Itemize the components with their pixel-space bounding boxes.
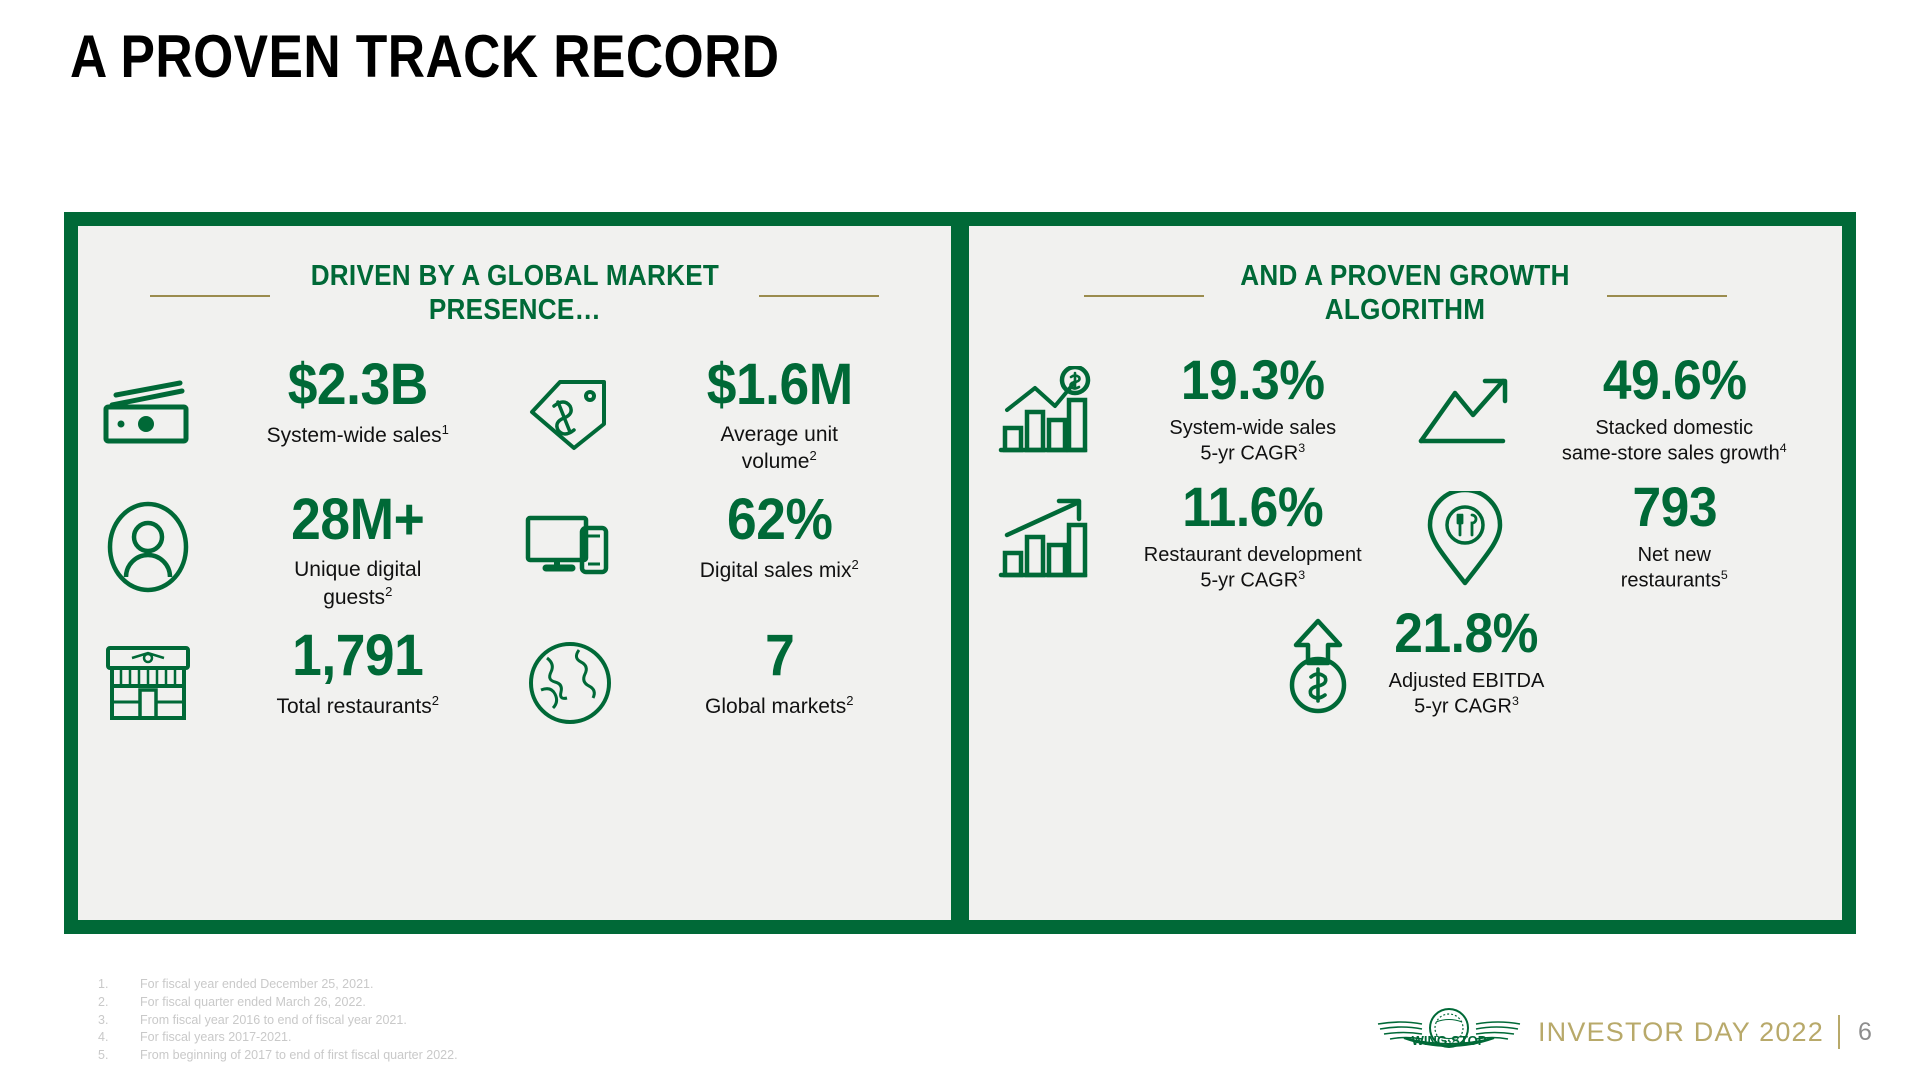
stat-label: Digital sales mix2 bbox=[630, 557, 930, 584]
wingstop-wings-logo: WING·STOP bbox=[1374, 1004, 1524, 1060]
stat-body: 11.6% Restaurant development 5-yr CAGR3 bbox=[1107, 477, 1399, 594]
footnote-text: From fiscal year 2016 to end of fiscal y… bbox=[140, 1012, 407, 1030]
stat-average-unit-volume: $1.6M Average unit volume2 bbox=[518, 354, 934, 476]
stat-body: 62% Digital sales mix2 bbox=[630, 489, 930, 584]
svg-text:WING·STOP: WING·STOP bbox=[1412, 1033, 1487, 1048]
dollar-arrow-up-icon bbox=[1266, 613, 1370, 717]
slide: A PROVEN TRACK RECORD DRIVEN BY A GLOBAL… bbox=[0, 0, 1920, 1080]
stat-value: 49.6% bbox=[1540, 352, 1808, 408]
stat-value: 28M+ bbox=[220, 491, 496, 549]
stat-restaurant-development-cagr: 11.6% Restaurant development 5-yr CAGR3 bbox=[987, 477, 1403, 594]
trend-arrow-up-icon bbox=[1413, 360, 1517, 464]
stat-label: Restaurant development 5-yr CAGR3 bbox=[1107, 543, 1399, 594]
right-panel: AND A PROVEN GROWTH ALGORITHM bbox=[969, 226, 1842, 920]
stat-label: System-wide sales1 bbox=[208, 422, 508, 449]
stat-body: 19.3% System-wide sales 5-yr CAGR3 bbox=[1107, 350, 1399, 467]
footnote-item: 5. From beginning of 2017 to end of firs… bbox=[98, 1047, 458, 1065]
stat-body: 28M+ Unique digital guests2 bbox=[208, 489, 508, 611]
stat-label: Net new restaurants5 bbox=[1529, 543, 1821, 594]
left-panel-heading-text: DRIVEN BY A GLOBAL MARKET PRESENCE… bbox=[310, 260, 718, 328]
page-title: A PROVEN TRACK RECORD bbox=[70, 22, 779, 91]
map-pin-restaurant-icon bbox=[1413, 487, 1517, 591]
footnote-number: 5. bbox=[98, 1047, 140, 1065]
left-panel-heading: DRIVEN BY A GLOBAL MARKET PRESENCE… bbox=[96, 260, 933, 328]
stat-body: $1.6M Average unit volume2 bbox=[630, 354, 930, 476]
stat-value: 793 bbox=[1540, 479, 1808, 535]
stat-value: $2.3B bbox=[220, 356, 496, 414]
footnote-item: 4. For fiscal years 2017-2021. bbox=[98, 1029, 458, 1047]
rule-left-icon bbox=[1084, 295, 1204, 297]
footnote-text: From beginning of 2017 to end of first f… bbox=[140, 1047, 458, 1065]
right-panel-heading-text: AND A PROVEN GROWTH ALGORITHM bbox=[1241, 260, 1570, 328]
stat-value: 7 bbox=[641, 627, 917, 685]
stat-value: 19.3% bbox=[1119, 352, 1387, 408]
devices-monitor-phone-icon bbox=[522, 499, 618, 595]
footnotes-list: 1. For fiscal year ended December 25, 20… bbox=[98, 976, 458, 1065]
footnote-item: 1. For fiscal year ended December 25, 20… bbox=[98, 976, 458, 994]
stat-value: 11.6% bbox=[1119, 479, 1387, 535]
stat-body: 21.8% Adjusted EBITDA 5-yr CAGR3 bbox=[1388, 603, 1544, 720]
stat-adjusted-ebitda-cagr: 21.8% Adjusted EBITDA 5-yr CAGR3 bbox=[987, 603, 1824, 720]
stat-body: 793 Net new restaurants5 bbox=[1529, 477, 1821, 594]
stat-label: Adjusted EBITDA 5-yr CAGR3 bbox=[1388, 669, 1544, 720]
left-stat-grid: $2.3B System-wide sales1 $1 bbox=[96, 354, 933, 731]
rule-right-icon bbox=[1607, 295, 1727, 297]
stat-value: 21.8% bbox=[1395, 605, 1539, 661]
stat-unique-digital-guests: 28M+ Unique digital guests2 bbox=[96, 489, 512, 611]
stat-stacked-domestic-sss-growth: 49.6% Stacked domestic same-store sales … bbox=[1409, 350, 1825, 467]
footnote-number: 1. bbox=[98, 976, 140, 994]
footnote-item: 2. For fiscal quarter ended March 26, 20… bbox=[98, 994, 458, 1012]
footnote-number: 4. bbox=[98, 1029, 140, 1047]
bar-chart-dollar-icon bbox=[991, 360, 1095, 464]
stat-value: 62% bbox=[641, 491, 917, 549]
stat-body: 1,791 Total restaurants2 bbox=[208, 625, 508, 720]
user-circle-icon bbox=[100, 499, 196, 595]
footnote-item: 3. From fiscal year 2016 to end of fisca… bbox=[98, 1012, 458, 1030]
stat-body: $2.3B System-wide sales1 bbox=[208, 354, 508, 449]
footnote-text: For fiscal year ended December 25, 2021. bbox=[140, 976, 373, 994]
cash-bills-icon bbox=[100, 364, 196, 460]
stat-value: $1.6M bbox=[641, 356, 917, 414]
footer-brand-text: INVESTOR DAY 2022 bbox=[1538, 1017, 1824, 1048]
stat-label: Total restaurants2 bbox=[208, 693, 508, 720]
footer-divider bbox=[1838, 1015, 1840, 1049]
footnote-number: 3. bbox=[98, 1012, 140, 1030]
stat-system-wide-sales: $2.3B System-wide sales1 bbox=[96, 354, 512, 476]
bar-chart-arrow-icon bbox=[991, 487, 1095, 591]
right-panel-heading: AND A PROVEN GROWTH ALGORITHM bbox=[987, 260, 1824, 328]
left-panel: DRIVEN BY A GLOBAL MARKET PRESENCE… bbox=[78, 226, 951, 920]
slide-footer: WING·STOP INVESTOR DAY 2022 6 bbox=[1374, 1004, 1876, 1060]
globe-icon bbox=[522, 635, 618, 731]
stat-label: Global markets2 bbox=[630, 693, 930, 720]
content-frame: DRIVEN BY A GLOBAL MARKET PRESENCE… bbox=[64, 212, 1856, 934]
footnote-number: 2. bbox=[98, 994, 140, 1012]
stat-label: Average unit volume2 bbox=[630, 422, 930, 476]
footnote-text: For fiscal quarter ended March 26, 2022. bbox=[140, 994, 366, 1012]
page-number: 6 bbox=[1854, 1018, 1876, 1047]
rule-right-icon bbox=[759, 295, 879, 297]
stat-global-markets: 7 Global markets2 bbox=[518, 625, 934, 731]
footnote-text: For fiscal years 2017-2021. bbox=[140, 1029, 291, 1047]
stat-label: System-wide sales 5-yr CAGR3 bbox=[1107, 416, 1399, 467]
stat-net-new-restaurants: 793 Net new restaurants5 bbox=[1409, 477, 1825, 594]
price-tag-dollar-icon bbox=[522, 364, 618, 460]
stat-body: 49.6% Stacked domestic same-store sales … bbox=[1529, 350, 1821, 467]
stat-total-restaurants: 1,791 Total restaurants2 bbox=[96, 625, 512, 731]
stat-label: Unique digital guests2 bbox=[208, 557, 508, 611]
stat-label: Stacked domestic same-store sales growth… bbox=[1529, 416, 1821, 467]
storefront-icon bbox=[100, 635, 196, 731]
rule-left-icon bbox=[150, 295, 270, 297]
stat-body: 7 Global markets2 bbox=[630, 625, 930, 720]
stat-value: 1,791 bbox=[220, 627, 496, 685]
stat-digital-sales-mix: 62% Digital sales mix2 bbox=[518, 489, 934, 611]
stat-system-wide-sales-cagr: 19.3% System-wide sales 5-yr CAGR3 bbox=[987, 350, 1403, 467]
right-stat-grid: 19.3% System-wide sales 5-yr CAGR3 49.6% bbox=[987, 350, 1824, 720]
